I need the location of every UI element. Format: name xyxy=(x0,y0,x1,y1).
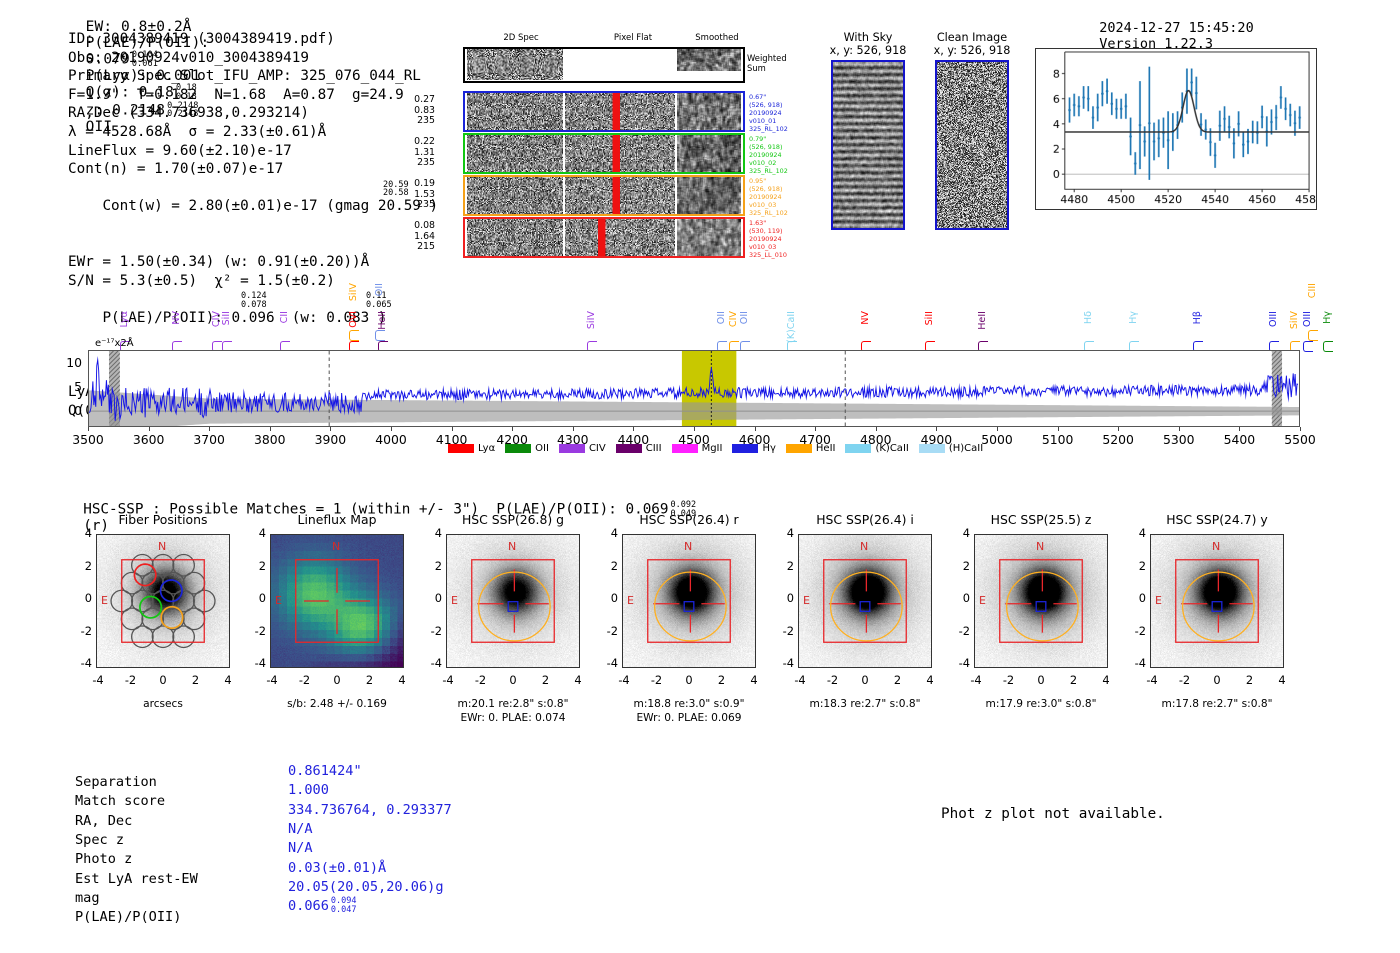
spectrum-ytick: 0 xyxy=(46,403,82,418)
match-table-key: RA, Dec xyxy=(75,812,132,831)
imaging-xtick: 0 xyxy=(152,673,174,687)
legend-label: Lyα xyxy=(478,443,495,454)
fiber-row xyxy=(463,175,745,216)
spectrum-xtick-mark xyxy=(1058,427,1059,431)
imaging-ytick: 0 xyxy=(64,591,92,605)
spectrum-xtick-mark xyxy=(755,427,756,431)
spectrum-line-label: SiIV xyxy=(348,283,359,301)
spectrum-xtick: 5200 xyxy=(1088,432,1148,447)
imaging-ytick: 4 xyxy=(942,526,970,540)
cutout-title-clean: Clean Image xyxy=(917,31,1027,44)
imaging-ytick: 4 xyxy=(414,526,442,540)
imaging-panel-caption: m:17.8 re:2.7" s:0.8" xyxy=(1114,698,1320,712)
imaging-ytick: 2 xyxy=(414,559,442,573)
spectrum-ytick: 10 xyxy=(46,355,82,370)
compass-north: N xyxy=(508,540,516,553)
imaging-xtick: 2 xyxy=(711,673,733,687)
match-table-key: Spec z xyxy=(75,831,124,850)
legend-swatch xyxy=(505,444,531,453)
imaging-panel-title: HSC SSP(24.7) y xyxy=(1114,512,1320,527)
info-line-cont-n: Cont(n) = 1.70(±0.07)e-17 xyxy=(68,160,438,179)
match-table-value: 1.000 xyxy=(288,781,329,800)
fiber-metadata: 0.79" (526, 918) 20190924 v010_02 325_RL… xyxy=(749,135,788,175)
imaging-xtick: -2 xyxy=(120,673,142,687)
legend-swatch xyxy=(559,444,585,453)
imaging-overlay xyxy=(447,535,579,667)
imaging-ytick: 2 xyxy=(64,559,92,573)
spectrum-line-bracket xyxy=(1303,341,1313,352)
spectrum-xtick-mark xyxy=(149,427,150,431)
spectrum-xtick-mark xyxy=(1239,427,1240,431)
match-table-key: P(LAE)/P(OII) xyxy=(75,908,181,927)
compass-east: E xyxy=(275,594,282,607)
imaging-ytick: 4 xyxy=(590,526,618,540)
imaging-ytick: -2 xyxy=(238,624,266,638)
fiber-metadata: 0.95" (526, 918) 20190924 v010_03 325_RL… xyxy=(749,177,788,217)
info-line-lineflux: LineFlux = 9.60(±2.10)e-17 xyxy=(68,142,438,161)
imaging-ytick: -4 xyxy=(64,656,92,670)
spectrum-line-bracket xyxy=(1308,330,1318,341)
legend-label: OII xyxy=(535,443,549,454)
spectrum-line-label: Hγ xyxy=(1128,311,1139,324)
full-spectrum-plot: e⁻¹⁷x2Å xyxy=(88,350,1300,427)
spectrum-xtick-mark xyxy=(1118,427,1119,431)
compass-north: N xyxy=(158,540,166,553)
imaging-xtick: -2 xyxy=(294,673,316,687)
fiber-row xyxy=(463,91,745,132)
fiber-2dspec-cutout xyxy=(467,93,563,130)
imaging-xtick: 2 xyxy=(359,673,381,687)
fiber-row xyxy=(463,133,745,174)
cutout-title-with-sky: With Sky xyxy=(818,31,918,44)
imaging-xtick: -4 xyxy=(965,673,987,687)
col-title-smoothed: Smoothed xyxy=(687,33,747,43)
spectrum-legend-item: (H)CaII xyxy=(919,443,983,454)
legend-swatch xyxy=(786,444,812,453)
imaging-ytick: -2 xyxy=(1118,624,1146,638)
spectrum-line-label: SiIV xyxy=(586,311,597,329)
spectrum-xtick-mark xyxy=(1300,427,1301,431)
compass-east: E xyxy=(803,594,810,607)
spectrum-line-label: OIII xyxy=(1268,311,1279,327)
imaging-xtick: -4 xyxy=(261,673,283,687)
fiber-weights: 0.270.83235 xyxy=(409,95,435,127)
imaging-ytick: -4 xyxy=(766,656,794,670)
fiber-weights: 0.081.64215 xyxy=(409,221,435,253)
spectrum-xtick: 5400 xyxy=(1209,432,1269,447)
spectrum-xtick: 3600 xyxy=(119,432,179,447)
imaging-xtick: 0 xyxy=(678,673,700,687)
spectrum-line-label: OVI xyxy=(348,311,359,328)
legend-swatch xyxy=(919,444,945,453)
spectrum-xtick: 3800 xyxy=(240,432,300,447)
spectrum-line-label: OIII xyxy=(1302,311,1313,327)
fiber-row xyxy=(463,217,745,258)
imaging-ytick: -4 xyxy=(414,656,442,670)
info-gmag-range: 20.5920.58 xyxy=(383,181,409,198)
spectrum-line-label: OII xyxy=(374,283,385,296)
spectrum-line-label: OII xyxy=(739,311,750,324)
spectrum-line-bracket xyxy=(349,330,359,341)
cutout-sub-clean: x, y: 526, 918 xyxy=(917,44,1027,57)
weighted-sum-label: Weighted Sum xyxy=(747,53,787,73)
compass-east: E xyxy=(101,594,108,607)
spectrum-xtick: 3900 xyxy=(300,432,360,447)
fiber-smoothed xyxy=(677,219,741,256)
spectrum-xtick: 3500 xyxy=(58,432,118,447)
spectrum-line-label: SiIV xyxy=(1289,311,1300,329)
spectrum-legend-item: CIV xyxy=(559,443,606,454)
legend-swatch xyxy=(616,444,642,453)
fiber-smoothed xyxy=(677,93,741,130)
fiber-metadata: 1.63" (530, 119) 20190924 v010_03 325_LL… xyxy=(749,219,787,259)
fiber-metadata: 0.67" (526, 918) 20190924 v010_01 325_RL… xyxy=(749,93,788,133)
spectrum-xtick: 5500 xyxy=(1270,432,1330,447)
spectrum-xtick-mark xyxy=(815,427,816,431)
spectrum-units-annotation: e⁻¹⁷x2Å xyxy=(95,338,134,349)
spectrum-legend: LyαOIICIVCIIIMgIIHγHeII(K)CaII(H)CaII xyxy=(448,443,983,454)
info-line-radec: RA,Dec (334.736938,0.293214) xyxy=(68,104,438,123)
imaging-panel: HSC SSP(24.7) yNE-4-4-2-2002244m:17.8 re… xyxy=(1114,512,1320,727)
spectrum-xtick: 5100 xyxy=(1028,432,1088,447)
imaging-xtick: -2 xyxy=(646,673,668,687)
match-table-value: 334.736764, 0.293377 xyxy=(288,801,452,820)
col-title-2dspec: 2D Spec xyxy=(463,33,579,43)
compass-east: E xyxy=(1155,594,1162,607)
imaging-ytick: 4 xyxy=(1118,526,1146,540)
spectrum-xtick-mark xyxy=(391,427,392,431)
imaging-overlay xyxy=(975,535,1107,667)
imaging-ytick: 0 xyxy=(942,591,970,605)
fiber-2dspec-cutout xyxy=(467,177,563,214)
imaging-ytick: 0 xyxy=(766,591,794,605)
imaging-xtick: 0 xyxy=(1030,673,1052,687)
spectrum-legend-item: CIII xyxy=(616,443,662,454)
imaging-ytick: 0 xyxy=(238,591,266,605)
spectrum-line-label: CII xyxy=(279,311,290,323)
legend-swatch xyxy=(448,444,474,453)
match-table-value: N/A xyxy=(288,839,313,858)
imaging-panel-frame xyxy=(974,534,1108,668)
spectrum-xtick-mark xyxy=(1179,427,1180,431)
legend-swatch xyxy=(672,444,698,453)
imaging-ytick: 2 xyxy=(590,559,618,573)
imaging-ytick: -2 xyxy=(414,624,442,638)
legend-label: CIV xyxy=(589,443,606,454)
info-line-wavelength: λ = 4528.68Å σ = 2.33(±0.61)Å xyxy=(68,123,438,142)
with-sky-image xyxy=(831,60,905,230)
imaging-ytick: -4 xyxy=(1118,656,1146,670)
spectrum-line-label: Lyα xyxy=(119,311,130,327)
imaging-ytick: 2 xyxy=(942,559,970,573)
photz-note: Phot z plot not available. xyxy=(941,806,1165,822)
spectrum-line-label: HeII xyxy=(977,311,988,330)
compass-north: N xyxy=(332,540,340,553)
imaging-ytick: 2 xyxy=(1118,559,1146,573)
spectrum-xtick: 5300 xyxy=(1149,432,1209,447)
imaging-overlay xyxy=(1151,535,1283,667)
2d-spectra-panel: 2D Spec Pixel Flat Smoothed Weighted Sum… xyxy=(437,33,767,255)
imaging-ytick: -2 xyxy=(942,624,970,638)
spectrum-legend-item: MgII xyxy=(672,443,723,454)
info-line-primary-slot: Primary Spec_Slot_IFU_AMP: 325_076_044_R… xyxy=(68,67,438,86)
spectrum-legend-item: Hγ xyxy=(732,443,775,454)
imaging-xtick: 0 xyxy=(854,673,876,687)
spectrum-xtick-mark xyxy=(88,427,89,431)
spectrum-xtick-mark xyxy=(694,427,695,431)
imaging-overlay xyxy=(799,535,931,667)
spectrum-line-label: NV xyxy=(171,311,182,325)
spectrum-xtick: 4000 xyxy=(361,432,421,447)
fiber-pixelflat xyxy=(565,93,675,130)
spectrum-line-label: Hγ xyxy=(1322,311,1333,324)
spectrum-xtick-mark xyxy=(573,427,574,431)
legend-label: HeII xyxy=(816,443,836,454)
legend-label: (H)CaII xyxy=(949,443,983,454)
spectrum-legend-item: Lyα xyxy=(448,443,495,454)
spectrum-xtick-mark xyxy=(512,427,513,431)
match-table-value: 0.0660.0940.047 xyxy=(288,897,357,916)
imaging-xtick: 0 xyxy=(326,673,348,687)
spectrum-xtick-mark xyxy=(209,427,210,431)
fiber-2dspec-cutout xyxy=(467,219,563,256)
spectrum-xtick: 3700 xyxy=(179,432,239,447)
imaging-xtick: -4 xyxy=(789,673,811,687)
imaging-ytick: 4 xyxy=(64,526,92,540)
legend-label: CIII xyxy=(646,443,662,454)
legend-label: Hγ xyxy=(762,443,775,454)
imaging-ytick: 4 xyxy=(238,526,266,540)
spectrum-line-label: OII xyxy=(716,311,727,324)
imaging-ytick: -2 xyxy=(64,624,92,638)
match-table-value: 0.03(±0.01)Å xyxy=(288,859,386,878)
imaging-xtick: 0 xyxy=(1206,673,1228,687)
imaging-xtick: -4 xyxy=(613,673,635,687)
imaging-panel-frame xyxy=(1150,534,1284,668)
imaging-xtick: 4 xyxy=(1271,673,1293,687)
imaging-ytick: 0 xyxy=(1118,591,1146,605)
info-line-obs: Obs: 20190924v010_3004389419 xyxy=(68,49,438,68)
spectrum-legend-item: (K)CaII xyxy=(845,443,908,454)
match-table-key: mag xyxy=(75,889,100,908)
imaging-panel-frame xyxy=(622,534,756,668)
fiber-smoothed xyxy=(677,177,741,214)
spectrum-line-label: CIII xyxy=(1307,283,1318,298)
imaging-ytick: -2 xyxy=(766,624,794,638)
spectrum-line-label: Hδ xyxy=(1083,311,1094,324)
spectrum-xtick-mark xyxy=(452,427,453,431)
imaging-xtick: -4 xyxy=(87,673,109,687)
compass-east: E xyxy=(451,594,458,607)
spectrum-line-bracket xyxy=(375,330,385,341)
weighted-sum-row xyxy=(463,47,745,83)
imaging-ytick: 0 xyxy=(414,591,442,605)
spectrum-line-label: (K)CaII xyxy=(786,311,797,343)
imaging-xtick: 2 xyxy=(185,673,207,687)
imaging-xtick: -2 xyxy=(998,673,1020,687)
match-table-key: Est LyA rest-EW xyxy=(75,870,198,889)
imaging-ytick: -4 xyxy=(942,656,970,670)
spectrum-line-label: Hβ xyxy=(1192,311,1203,324)
spectrum-xtick-mark xyxy=(997,427,998,431)
spectrum-line-bracket xyxy=(1323,341,1333,352)
spectrum-line-label: SiII xyxy=(924,311,935,325)
cutout-sub-with-sky: x, y: 526, 918 xyxy=(818,44,918,57)
imaging-xtick: 2 xyxy=(887,673,909,687)
fiber-2dspec-cutout xyxy=(467,135,563,172)
imaging-xtick: 0 xyxy=(502,673,524,687)
imaging-ytick: 2 xyxy=(238,559,266,573)
compass-north: N xyxy=(1212,540,1220,553)
imaging-ytick: -4 xyxy=(238,656,266,670)
spectrum-line-label: NV xyxy=(860,311,871,325)
compass-east: E xyxy=(979,594,986,607)
match-table-key: Match score xyxy=(75,792,165,811)
spectrum-xtick-mark xyxy=(270,427,271,431)
imaging-ytick: -4 xyxy=(590,656,618,670)
imaging-ytick: -2 xyxy=(590,624,618,638)
clean-image xyxy=(935,60,1009,230)
info-line-seeing: F=1.9" T=0.182 N=1.68 A=0.87 g=24.9 xyxy=(68,86,438,105)
match-table-value: N/A xyxy=(288,820,313,839)
imaging-panel-frame xyxy=(446,534,580,668)
fiber-smoothed xyxy=(677,135,741,172)
header-timestamp-version: 2024-12-27 15:45:20 Version 1.22.3 xyxy=(1083,4,1270,52)
match-table-value: 0.861424" xyxy=(288,762,362,781)
imaging-xtick: -2 xyxy=(822,673,844,687)
legend-label: MgII xyxy=(702,443,723,454)
imaging-panel-frame xyxy=(270,534,404,668)
fiber-pixelflat xyxy=(565,135,675,172)
match-table-key: Photo z xyxy=(75,850,132,869)
info-line-id: ID: 3004389419 (3004389419.pdf) xyxy=(68,30,438,49)
spectrum-xtick-mark xyxy=(633,427,634,431)
match-table-value: 20.05(20.05,20.06)g xyxy=(288,878,444,897)
imaging-xtick: 2 xyxy=(1063,673,1085,687)
match-plae-range: 0.0940.047 xyxy=(331,897,357,914)
compass-north: N xyxy=(684,540,692,553)
legend-swatch xyxy=(732,444,758,453)
fiber-weights: 0.221.31235 xyxy=(409,137,435,169)
imaging-overlay xyxy=(271,535,403,667)
compass-east: E xyxy=(627,594,634,607)
fiber-pixelflat xyxy=(565,177,675,214)
spectrum-line-label: CIV xyxy=(728,311,739,327)
col-title-pixelflat: Pixel Flat xyxy=(583,33,683,43)
imaging-panel-frame xyxy=(96,534,230,668)
spectrum-line-label: SiII xyxy=(221,311,232,325)
fiber-pixelflat xyxy=(565,219,675,256)
imaging-ytick: 0 xyxy=(590,591,618,605)
info-plae-range: 0.1240.078 xyxy=(241,292,267,309)
imaging-xtick: 2 xyxy=(1239,673,1261,687)
imaging-ytick: 2 xyxy=(766,559,794,573)
info-line-ewr: EWr = 1.50(±0.34) (w: 0.91(±0.20))Å xyxy=(68,253,438,272)
imaging-overlay xyxy=(623,535,755,667)
compass-north: N xyxy=(860,540,868,553)
spectrum-xtick-mark xyxy=(876,427,877,431)
spectrum-legend-item: HeII xyxy=(786,443,836,454)
legend-label: (K)CaII xyxy=(875,443,908,454)
spectrum-ytick: 5 xyxy=(46,379,82,394)
fiber-weights: 0.191.53235 xyxy=(409,179,435,211)
imaging-panel-frame xyxy=(798,534,932,668)
imaging-caption-line1: m:17.8 re:2.7" s:0.8" xyxy=(1114,698,1320,712)
imaging-xtick: -2 xyxy=(1174,673,1196,687)
imaging-overlay xyxy=(97,535,229,667)
spectrum-line-label: HeII xyxy=(377,311,388,330)
compass-north: N xyxy=(1036,540,1044,553)
spectrum-xtick-mark xyxy=(330,427,331,431)
imaging-xtick: -4 xyxy=(1141,673,1163,687)
info-line-cont-w: Cont(w) = 2.80(±0.01)e-17 (gmag 20.59 ⁠)… xyxy=(68,179,438,253)
imaging-xtick: -2 xyxy=(470,673,492,687)
imaging-ytick: 4 xyxy=(766,526,794,540)
spectrum-xtick-mark xyxy=(936,427,937,431)
spectrum-legend-item: OII xyxy=(505,443,549,454)
legend-swatch xyxy=(845,444,871,453)
timestamp: 2024-12-27 15:45:20 xyxy=(1099,20,1253,36)
imaging-xtick: -4 xyxy=(437,673,459,687)
emission-line-zoom-plot: e⁻¹⁷x2Å xyxy=(1035,48,1317,210)
imaging-xtick: 2 xyxy=(535,673,557,687)
match-table-key: Separation xyxy=(75,773,157,792)
